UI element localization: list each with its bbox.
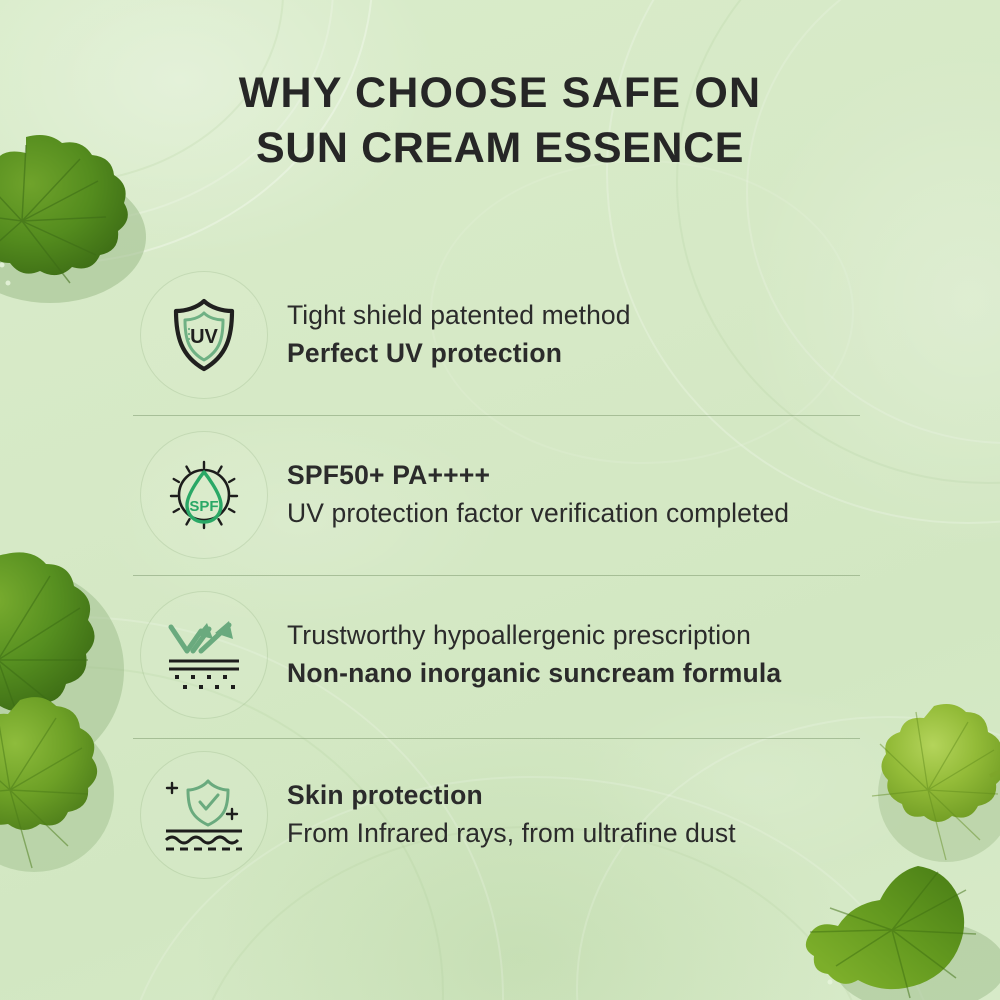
svg-text:UV: UV bbox=[190, 326, 218, 348]
feature-text: Skin protection From Infrared rays, from… bbox=[287, 777, 736, 853]
ray-deflection-barrier-icon bbox=[140, 591, 268, 719]
page-title: WHY CHOOSE SAFE ON SUN CREAM ESSENCE bbox=[0, 66, 1000, 176]
feature-row: UV Tight shield patented method Perfect … bbox=[0, 255, 1000, 415]
uv-shield-icon: UV bbox=[140, 271, 268, 399]
feature-line-1: Trustworthy hypoallergenic prescription bbox=[287, 617, 781, 655]
feature-row: Trustworthy hypoallergenic prescription … bbox=[0, 575, 1000, 735]
feature-list: UV Tight shield patented method Perfect … bbox=[0, 255, 1000, 895]
feature-text: Tight shield patented method Perfect UV … bbox=[287, 297, 631, 373]
feature-line-2: UV protection factor verification comple… bbox=[287, 495, 789, 533]
feature-line-1: Skin protection bbox=[287, 777, 736, 815]
title-line-2: SUN CREAM ESSENCE bbox=[0, 121, 1000, 176]
shield-check-skin-layers-icon bbox=[140, 751, 268, 879]
feature-line-2: Perfect UV protection bbox=[287, 335, 631, 373]
feature-line-2: Non-nano inorganic suncream formula bbox=[287, 655, 781, 693]
feature-line-1: Tight shield patented method bbox=[287, 297, 631, 335]
feature-row: Skin protection From Infrared rays, from… bbox=[0, 735, 1000, 895]
feature-row: SPF SPF50+ PA++++ UV protection factor v… bbox=[0, 415, 1000, 575]
svg-text:SPF: SPF bbox=[189, 498, 218, 515]
title-line-1: WHY CHOOSE SAFE ON bbox=[0, 66, 1000, 121]
marketing-banner: WHY CHOOSE SAFE ON SUN CREAM ESSENCE UV … bbox=[0, 0, 1000, 1000]
spf-droplet-sun-icon: SPF bbox=[140, 431, 268, 559]
feature-line-1: SPF50+ PA++++ bbox=[287, 457, 789, 495]
feature-text: SPF50+ PA++++ UV protection factor verif… bbox=[287, 457, 789, 533]
feature-text: Trustworthy hypoallergenic prescription … bbox=[287, 617, 781, 693]
feature-line-2: From Infrared rays, from ultrafine dust bbox=[287, 815, 736, 853]
